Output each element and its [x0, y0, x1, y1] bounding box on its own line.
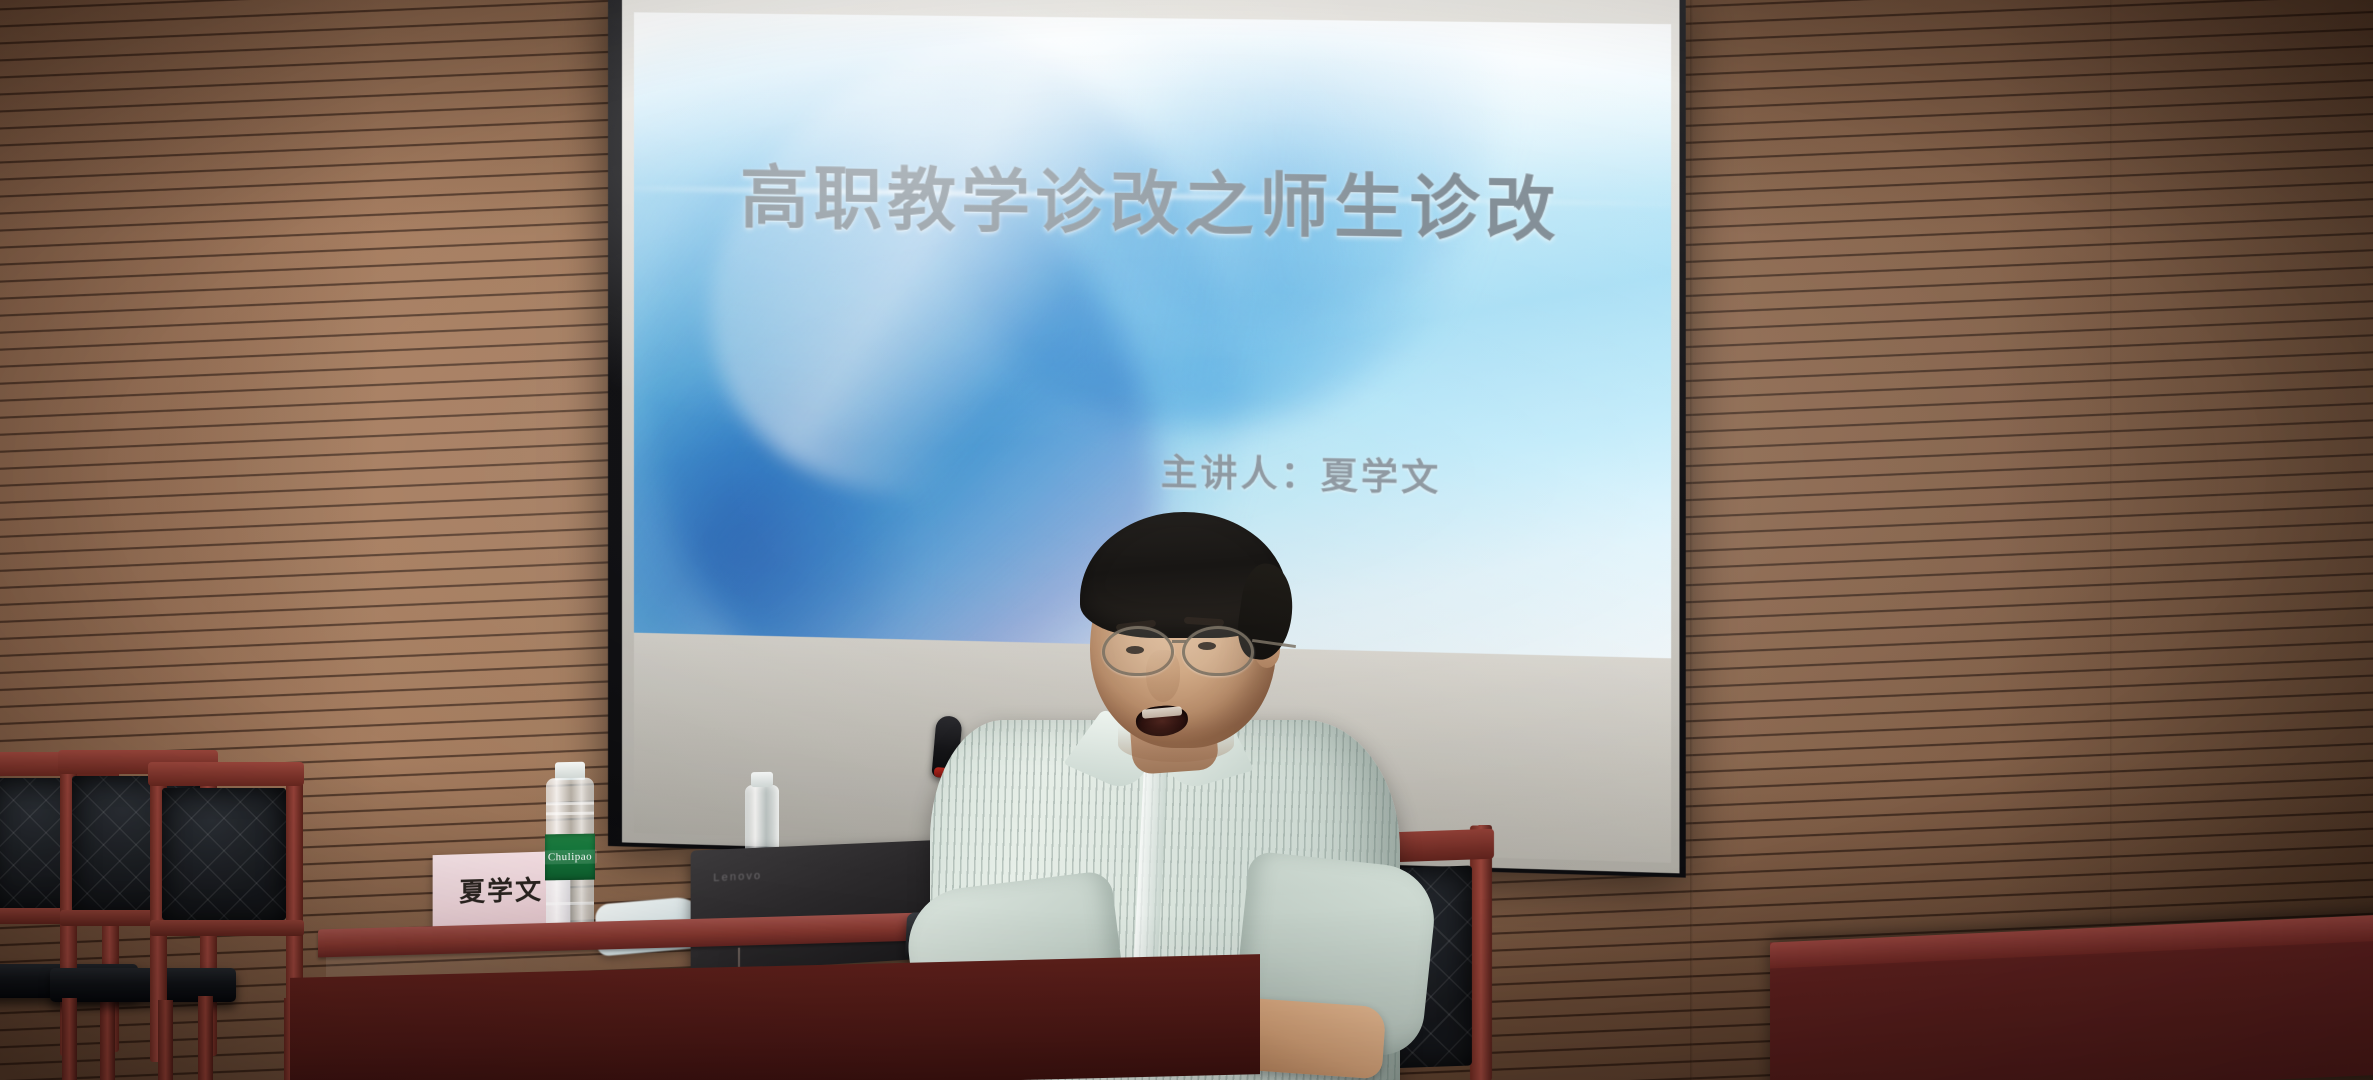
glasses-lens-right [1182, 626, 1254, 676]
right-side-podium [1770, 913, 2373, 1080]
audience-chairs-left [0, 742, 304, 1080]
chair-leg [62, 998, 77, 1080]
chair-back-pad [162, 788, 286, 920]
lecture-hall-scene: 高职教学诊改之师生诊改 主讲人：夏学文 夏学文 Chulipao Lenov [0, 0, 2373, 1080]
chair-lower-rail [150, 920, 304, 936]
water-bottle: Chulipao [546, 778, 594, 939]
glass-bottle-cap [751, 772, 773, 787]
chair-crest-rail [148, 762, 304, 786]
chair [150, 750, 306, 1080]
glasses-bridge [1172, 640, 1186, 643]
chair-stile [1470, 825, 1492, 1080]
bottle-label: Chulipao [545, 834, 595, 881]
speaker-glasses [1100, 626, 1284, 678]
chair-leg [158, 1000, 173, 1080]
slide-title: 高职教学诊改之师生诊改 [634, 140, 1671, 256]
speaker-nose [1146, 650, 1180, 702]
speaker-chin-shadow [1118, 726, 1234, 762]
laptop-brand-logo: Lenovo [713, 870, 762, 884]
glasses-temple [1252, 639, 1296, 648]
name-card-text: 夏学文 [459, 869, 543, 908]
bottle-label-text: Chulipao [543, 850, 597, 865]
